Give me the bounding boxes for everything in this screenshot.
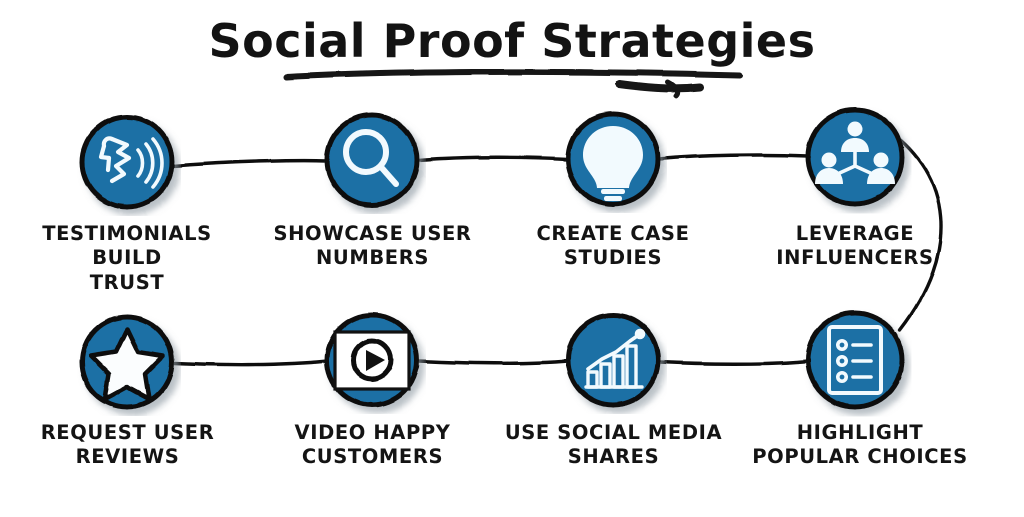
node-user-reviews[interactable] <box>82 317 172 407</box>
connector-case-studies-to-influencers <box>659 155 808 159</box>
node-circle-user-numbers[interactable] <box>327 115 417 205</box>
connector-popular-choices-to-social-shares <box>659 361 808 364</box>
node-testimonials[interactable] <box>82 117 172 207</box>
node-popular-choices[interactable] <box>808 313 902 407</box>
infographic-artwork: Social Proof Strategies <box>0 0 1024 517</box>
connector-user-numbers-to-case-studies <box>418 157 568 160</box>
page-title: Social Proof Strategies <box>208 14 815 68</box>
connector-video-customers-to-user-reviews <box>173 361 327 365</box>
connector-testimonials-to-user-numbers <box>173 161 327 166</box>
node-user-numbers[interactable] <box>327 115 417 205</box>
node-case-studies[interactable] <box>568 114 658 204</box>
page-title-group: Social Proof Strategies <box>208 14 815 96</box>
infographic-canvas: Social Proof Strategies <box>0 0 1024 517</box>
node-video-customers[interactable] <box>327 315 417 405</box>
video-play-screen-icon <box>335 332 409 389</box>
connector-social-shares-to-video-customers <box>418 361 568 363</box>
title-underline <box>286 72 740 96</box>
node-influencers[interactable] <box>808 110 902 204</box>
node-social-shares[interactable] <box>568 315 658 405</box>
node-circle-testimonials[interactable] <box>82 117 172 207</box>
